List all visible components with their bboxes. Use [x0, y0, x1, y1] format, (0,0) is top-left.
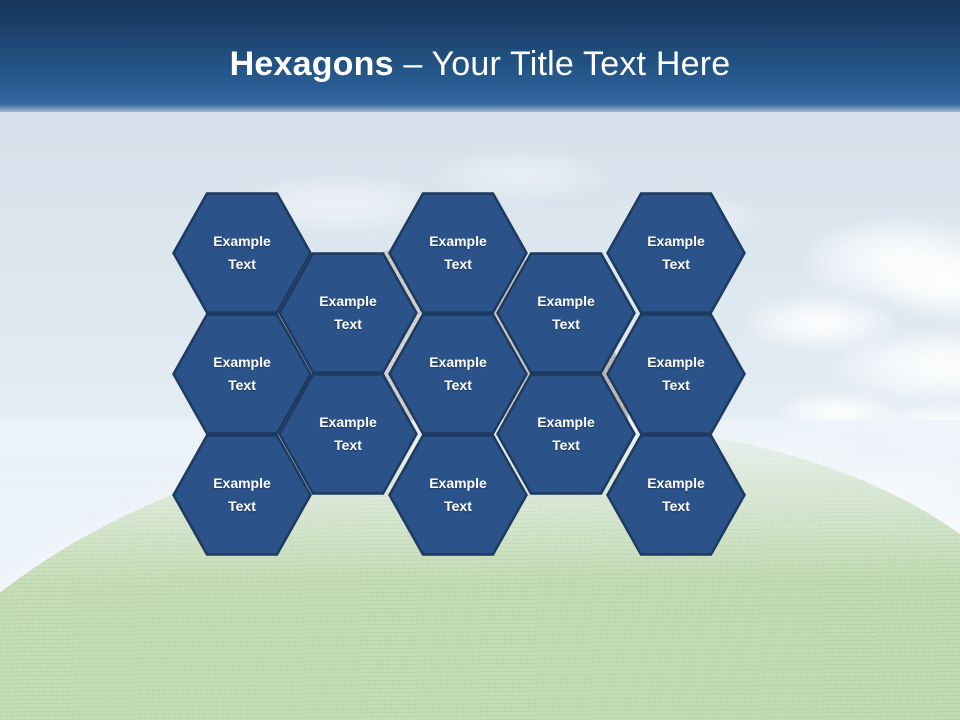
hexagon-shape: [608, 315, 745, 434]
hexagon-honeycomb-diagram: ExampleTextExampleTextExampleTextExample…: [0, 0, 960, 720]
hexagon-shape: [608, 436, 745, 555]
hexagon-node[interactable]: ExampleText: [606, 192, 746, 314]
hexagon-node[interactable]: ExampleText: [606, 434, 746, 556]
hexagon-shape: [608, 194, 745, 313]
slide-canvas: Hexagons – Your Title Text Here ExampleT…: [0, 0, 960, 720]
hexagon-node[interactable]: ExampleText: [606, 313, 746, 435]
